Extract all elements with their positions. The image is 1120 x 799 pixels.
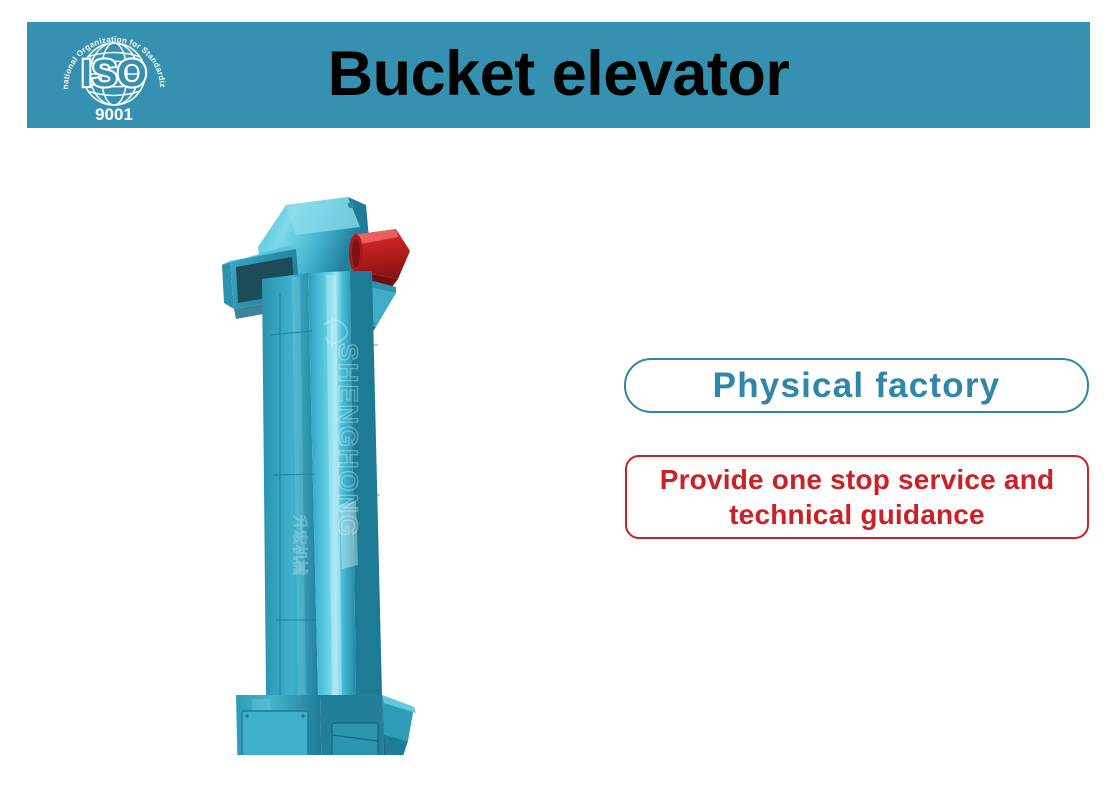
service-guidance-line-2: technical guidance: [729, 499, 985, 530]
svg-text:SHENGHONG: SHENGHONG: [333, 343, 363, 538]
physical-factory-callout: Physical factory: [624, 358, 1089, 413]
bucket-elevator-image: SHENGHONG 升宏机械: [200, 175, 480, 755]
service-guidance-callout: Provide one stop service and technical g…: [625, 455, 1089, 539]
page-title: Bucket elevator: [27, 22, 1090, 128]
service-guidance-line-1: Provide one stop service and: [660, 464, 1055, 495]
physical-factory-label: Physical factory: [713, 366, 1001, 406]
svg-text:升宏机械: 升宏机械: [291, 515, 309, 575]
header-banner: International Organization for Standardi…: [27, 22, 1090, 128]
service-guidance-label: Provide one stop service and technical g…: [660, 462, 1055, 533]
watermark-shenghong: SHENGHONG: [333, 343, 363, 538]
watermark-cjk: 升宏机械: [291, 515, 309, 575]
